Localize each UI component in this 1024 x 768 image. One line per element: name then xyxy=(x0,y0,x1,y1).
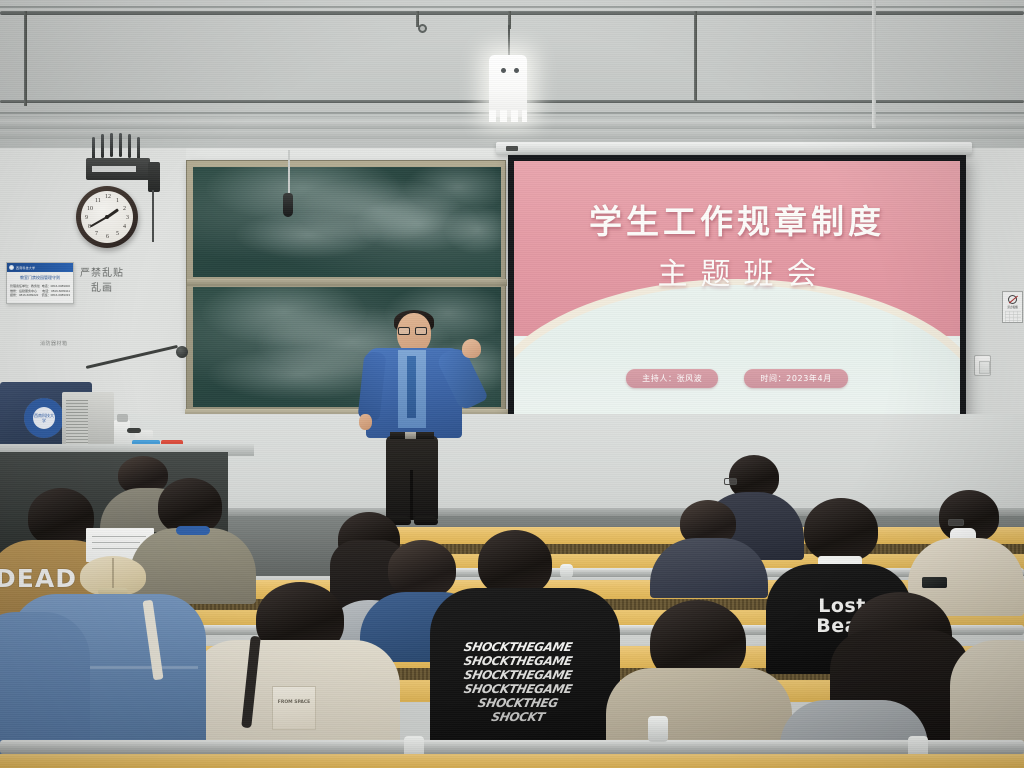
slide-host-pill: 主持人：张风波 xyxy=(626,369,718,388)
bottle-cap xyxy=(117,414,128,422)
wall-notice-board: 西南科技大学 教室门禁校园管理守则 管理责任单位：教务处 电话：0816-608… xyxy=(6,262,74,304)
clock-number: 3 xyxy=(126,215,129,221)
wall-warning-line1: 严禁乱贴 xyxy=(80,266,124,281)
projection-screen: 学生工作规章制度 主题班会 主持人：张风波 时间：2023年4月 xyxy=(508,155,966,429)
clock-number: 1 xyxy=(116,198,119,204)
microphone-cord xyxy=(288,150,290,195)
ceiling-hook xyxy=(418,24,427,33)
notice-header-text: 西南科技大学 xyxy=(16,266,35,270)
lamp-dot-icon xyxy=(514,68,519,73)
jammer-power-adapter xyxy=(148,162,160,192)
clock-number: 12 xyxy=(105,194,111,200)
front-desk-rail xyxy=(0,740,1024,754)
lamp-cord xyxy=(508,25,510,57)
presenter-shoe-right xyxy=(414,516,438,525)
clock-number: 2 xyxy=(123,206,126,212)
student-head xyxy=(804,498,878,562)
wall-small-note: 消防器材箱 xyxy=(40,340,68,347)
presenter-leg-gap xyxy=(410,470,413,520)
presenter-left-hand xyxy=(359,414,372,430)
slide-meta-row: 主持人：张风波 时间：2023年4月 xyxy=(514,369,960,388)
notice-cell: 报修：0816-6089222 xyxy=(10,293,38,298)
clock-number: 4 xyxy=(123,224,126,230)
notice-cell: 值班：0816-6089333 xyxy=(42,293,70,298)
student-garment-text: DEAD xyxy=(0,566,82,592)
presenter-belt-buckle xyxy=(405,432,416,439)
desk-rail-knob xyxy=(560,564,573,578)
student-body xyxy=(130,528,256,604)
ceiling-conduit xyxy=(0,11,1024,15)
screen-control-button[interactable] xyxy=(506,146,518,151)
clock-number: 6 xyxy=(106,234,109,240)
jammer-antenna xyxy=(110,133,113,157)
notice-row: 报修：0816-6089222 值班：0816-6089333 xyxy=(10,293,70,298)
lamp-dot-icon xyxy=(501,68,506,73)
lamp-diffuser xyxy=(489,110,527,122)
fleece-chest-patch xyxy=(272,686,316,730)
ceiling-lamp xyxy=(489,55,527,117)
wall-warning-line2: 乱画 xyxy=(80,281,124,296)
wall-warning-text: 严禁乱贴 乱画 xyxy=(80,266,124,296)
clock-number: 11 xyxy=(95,198,101,204)
clock-face: 12 1 2 3 4 5 6 7 8 9 10 11 xyxy=(81,191,133,243)
jammer-antenna xyxy=(119,133,122,157)
ceiling-conduit-drop xyxy=(694,11,697,101)
slide-date-pill: 时间：2023年4月 xyxy=(744,369,847,388)
desk-rail-knob xyxy=(648,716,668,742)
notice-rows: 管理责任单位：教务处 电话：0816-6089000 维修：后勤服务中心 电话：… xyxy=(7,284,73,298)
student-glasses xyxy=(724,478,737,485)
front-desk-surface xyxy=(0,754,1024,768)
student-glasses xyxy=(948,519,964,526)
student-phone[interactable] xyxy=(922,577,947,588)
university-seal-icon xyxy=(9,265,14,270)
presenter-tie xyxy=(407,356,416,418)
student-garment-text: SHOCKTHEGAMESHOCKTHEGAMESHOCKTHEGAMESHOC… xyxy=(444,640,592,724)
no-smoking-label: 禁止吸烟 xyxy=(1003,305,1022,309)
desk-pen xyxy=(127,428,141,433)
monitor-logo-text: 西南科技大学 xyxy=(33,407,55,429)
clock-number: 5 xyxy=(116,231,119,237)
blackboard-divider xyxy=(187,279,507,286)
classroom-photo: 12 1 2 3 4 5 6 7 8 9 10 11 西南科技大学 教室门禁校园… xyxy=(0,0,1024,768)
student-garment-text: FROM SPACE xyxy=(272,700,316,706)
slide-title: 学生工作规章制度 xyxy=(514,195,960,243)
gooseneck-microphone-head xyxy=(176,346,188,358)
blackboard-upper-panel xyxy=(193,167,501,277)
ceiling-pipe-white xyxy=(872,0,876,128)
slide-subtitle: 主题班会 xyxy=(514,249,960,293)
computer-vents xyxy=(66,400,88,446)
notice-title: 教室门禁校园管理守则 xyxy=(7,275,73,281)
notice-header: 西南科技大学 xyxy=(7,263,73,272)
student-head xyxy=(28,488,94,546)
student-body xyxy=(650,538,768,598)
ceiling-beam-lower xyxy=(0,131,1024,139)
clock-number: 7 xyxy=(95,231,98,237)
student-head xyxy=(388,540,456,598)
glasses-lens-left xyxy=(398,327,410,335)
ceiling-conduit-drop xyxy=(24,11,27,106)
presentation-slide: 学生工作规章制度 主题班会 主持人：张风波 时间：2023年4月 xyxy=(514,161,960,417)
jammer-wire xyxy=(152,190,154,242)
presenter-right-hand xyxy=(462,339,481,358)
student-collar xyxy=(176,526,210,535)
jammer-label xyxy=(92,166,136,172)
student-head xyxy=(478,530,552,596)
clock-hub xyxy=(105,215,109,219)
jammer-antenna xyxy=(101,134,104,158)
presenter-glasses xyxy=(398,327,430,335)
hanging-microphone xyxy=(283,193,293,217)
no-smoking-sign: 禁止吸烟 xyxy=(1002,291,1023,323)
notebook-line xyxy=(92,542,140,543)
clock-number: 10 xyxy=(87,206,93,212)
no-smoking-grid xyxy=(1005,311,1021,323)
clock-number: 9 xyxy=(85,215,88,221)
notebook-line xyxy=(92,536,146,537)
ceiling-seam xyxy=(0,6,1024,8)
wall-clock: 12 1 2 3 4 5 6 7 8 9 10 11 xyxy=(76,186,138,248)
no-smoking-icon xyxy=(1008,295,1017,304)
jammer-antenna xyxy=(128,134,131,158)
glasses-lens-right xyxy=(415,327,427,335)
light-switch[interactable] xyxy=(974,355,991,376)
projector-screen-housing xyxy=(496,142,972,155)
